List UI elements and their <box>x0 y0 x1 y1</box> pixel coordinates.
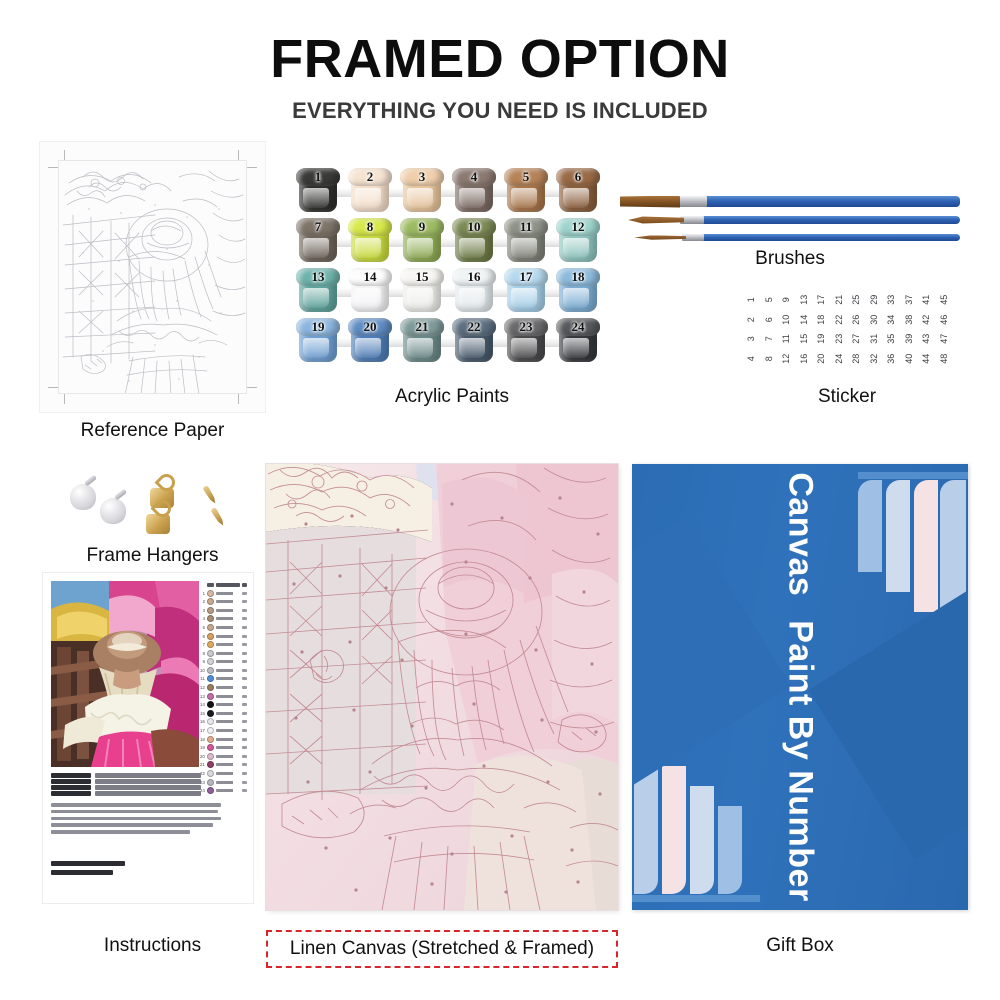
legend-index: 12 <box>197 685 205 690</box>
legend-index: 2 <box>197 599 205 604</box>
gift-box-stripe <box>718 806 742 894</box>
legend-header: A <box>197 581 247 588</box>
legend-row: 4 <box>197 615 247 624</box>
paint-row: 7 8 9 10 11 12 <box>296 216 608 266</box>
pot-gloss <box>511 288 537 308</box>
paint-pot-22: 22 <box>452 318 496 364</box>
pot-gloss <box>459 338 485 358</box>
legend-row: 7 <box>197 640 247 649</box>
pot-number: 2 <box>348 169 392 185</box>
legend-index: 20 <box>197 754 205 759</box>
sticker-number: 41 <box>916 291 936 309</box>
legend-row: 3 <box>197 606 247 615</box>
instructions-sheet-image: A 12345678910111213141516171819202122232… <box>42 572 254 904</box>
legend-code <box>216 609 240 612</box>
legend-index: 19 <box>197 745 205 750</box>
legend-index: 7 <box>197 642 205 647</box>
pot-number: 4 <box>452 169 496 185</box>
legend-code <box>216 712 240 715</box>
legend-code <box>216 660 240 663</box>
pot-number: 19 <box>296 319 340 335</box>
legend-qty <box>242 626 247 629</box>
legend-swatch <box>207 779 214 786</box>
caption-linen-canvas: Linen Canvas (Stretched & Framed) <box>266 930 618 968</box>
sticker-number-grid: 1234567891011121314151617181920212223242… <box>742 290 952 368</box>
legend-qty <box>242 600 247 603</box>
gift-box-line1: Canvas <box>782 472 820 596</box>
paint-pot-20: 20 <box>348 318 392 364</box>
brushes-image <box>620 170 960 260</box>
pot-number: 16 <box>452 269 496 285</box>
paint-pot-9: 9 <box>400 218 444 264</box>
linen-canvas-image <box>266 464 618 910</box>
sticker-number: 27 <box>846 330 866 348</box>
legend-index: 8 <box>197 651 205 656</box>
wall-plug <box>70 484 96 510</box>
pot-gloss <box>511 338 537 358</box>
acrylic-paints-image: 1 2 3 4 5 6 7 8 9 10 11 12 13 14 15 16 1… <box>296 166 608 366</box>
pot-gloss <box>303 338 329 358</box>
pot-gloss <box>459 288 485 308</box>
legend-index: 1 <box>197 591 205 596</box>
gift-box-stripe <box>914 480 938 612</box>
legend-swatch <box>207 607 214 614</box>
legend-row: 9 <box>197 658 247 667</box>
legend-qty <box>242 738 247 741</box>
legend-qty <box>242 781 247 784</box>
sticker-number: 47 <box>934 330 954 348</box>
paint-pot-24: 24 <box>556 318 600 364</box>
legend-code <box>216 763 240 766</box>
legend-code <box>216 781 240 784</box>
paint-pot-13: 13 <box>296 268 340 314</box>
paint-pot-11: 11 <box>504 218 548 264</box>
pot-number: 14 <box>348 269 392 285</box>
column-key-line <box>51 779 201 784</box>
paint-pot-23: 23 <box>504 318 548 364</box>
caption-brushes: Brushes <box>700 248 880 270</box>
legend-qty <box>242 746 247 749</box>
legend-row: 17 <box>197 726 247 735</box>
sticker-number: 42 <box>916 311 936 329</box>
pot-gloss <box>563 288 589 308</box>
instructions-paragraph <box>51 803 221 837</box>
caption-reference-paper: Reference Paper <box>40 420 265 442</box>
paint-pot-10: 10 <box>452 218 496 264</box>
legend-qty <box>242 660 247 663</box>
legend-swatch <box>207 770 214 777</box>
paint-pot-1: 1 <box>296 168 340 214</box>
pot-number: 13 <box>296 269 340 285</box>
sticker-number: 26 <box>846 311 866 329</box>
sticker-number: 34 <box>881 311 901 329</box>
legend-code <box>216 592 240 595</box>
legend-code <box>216 626 240 629</box>
legend-qty <box>242 669 247 672</box>
gift-box-stripe <box>662 766 686 894</box>
legend-row: 8 <box>197 649 247 658</box>
legend-row: 18 <box>197 735 247 744</box>
gift-box-stripe <box>858 480 882 572</box>
pot-gloss <box>459 238 485 258</box>
caption-frame-hangers: Frame Hangers <box>40 545 265 567</box>
legend-code <box>216 686 240 689</box>
legend-row: 13 <box>197 692 247 701</box>
legend-code <box>216 677 240 680</box>
caption-instructions: Instructions <box>40 935 265 957</box>
pot-gloss <box>303 238 329 258</box>
legend-code <box>216 738 240 741</box>
paint-row: 19 20 21 22 23 24 <box>296 316 608 366</box>
legend-row: 6 <box>197 632 247 641</box>
pot-number: 18 <box>556 269 600 285</box>
pot-gloss <box>563 338 589 358</box>
legend-qty <box>242 729 247 732</box>
column-key-line <box>51 785 201 790</box>
pot-number: 3 <box>400 169 444 185</box>
screw <box>210 507 226 527</box>
legend-index: 15 <box>197 711 205 716</box>
wall-plug-pin <box>114 489 127 501</box>
pot-gloss <box>407 288 433 308</box>
legend-index: 4 <box>197 616 205 621</box>
legend-swatch <box>207 641 214 648</box>
legend-qty <box>242 609 247 612</box>
pot-gloss <box>407 238 433 258</box>
pot-number: 5 <box>504 169 548 185</box>
column-key-line <box>51 791 201 796</box>
column-key-line <box>51 773 201 778</box>
sticker-number: 12 <box>776 350 796 368</box>
pot-gloss <box>563 188 589 208</box>
gift-box-title: Canvas Paint By Number <box>781 472 820 901</box>
pot-number: 12 <box>556 219 600 235</box>
legend-row: 19 <box>197 743 247 752</box>
legend-qty <box>242 789 247 792</box>
legend-code <box>216 600 240 603</box>
legend-row: 24 <box>197 786 247 795</box>
legend-swatch <box>207 650 214 657</box>
legend-swatch <box>207 658 214 665</box>
legend-row: 10 <box>197 666 247 675</box>
legend-row: 1 <box>197 589 247 598</box>
legend-qty <box>242 652 247 655</box>
sticker-number: 11 <box>776 330 796 348</box>
legend-code <box>216 729 240 732</box>
reference-paper-lineart <box>58 160 247 394</box>
legend-code <box>216 617 240 620</box>
pot-number: 24 <box>556 319 600 335</box>
pot-gloss <box>303 188 329 208</box>
wall-plug-pin <box>84 475 97 487</box>
legend-index: 10 <box>197 668 205 673</box>
pot-number: 20 <box>348 319 392 335</box>
brush-round-fine <box>620 234 960 241</box>
pot-number: 1 <box>296 169 340 185</box>
legend-row: 12 <box>197 683 247 692</box>
paint-row: 13 14 15 16 17 18 <box>296 266 608 316</box>
pot-number: 9 <box>400 219 444 235</box>
pot-number: 6 <box>556 169 600 185</box>
legend-row: 14 <box>197 700 247 709</box>
pot-gloss <box>407 338 433 358</box>
frame-hangers-image <box>62 470 242 542</box>
pot-number: 21 <box>400 319 444 335</box>
legend-swatch <box>207 761 214 768</box>
pot-number: 23 <box>504 319 548 335</box>
legend-qty <box>242 635 247 638</box>
sticker-number: 10 <box>776 311 796 329</box>
pot-gloss <box>355 338 381 358</box>
pot-gloss <box>511 238 537 258</box>
paint-pot-19: 19 <box>296 318 340 364</box>
paint-pot-21: 21 <box>400 318 444 364</box>
pot-gloss <box>303 288 329 308</box>
reference-paper-image <box>40 142 265 412</box>
legend-qty <box>242 592 247 595</box>
legend-code <box>216 635 240 638</box>
instructions-color-legend: A 12345678910111213141516171819202122232… <box>197 581 247 795</box>
legend-qty <box>242 643 247 646</box>
pot-number: 17 <box>504 269 548 285</box>
paint-pot-12: 12 <box>556 218 600 264</box>
product-infographic: FRAMED OPTION EVERYTHING YOU NEED IS INC… <box>0 0 1000 1000</box>
legend-qty <box>242 695 247 698</box>
pot-gloss <box>459 188 485 208</box>
paint-pot-16: 16 <box>452 268 496 314</box>
sticker-number: 35 <box>881 330 901 348</box>
legend-code <box>216 772 240 775</box>
legend-index: 21 <box>197 762 205 767</box>
legend-row: 11 <box>197 675 247 684</box>
legend-qty <box>242 677 247 680</box>
sticker-number: 45 <box>934 291 954 309</box>
sticker-number: 18 <box>811 311 831 329</box>
legend-swatch <box>207 701 214 708</box>
legend-swatch <box>207 710 214 717</box>
pot-number: 8 <box>348 219 392 235</box>
legend-swatch <box>207 736 214 743</box>
pot-number: 15 <box>400 269 444 285</box>
sticker-number: 4 <box>741 350 761 368</box>
gift-box-stripe <box>886 480 910 592</box>
legend-code <box>216 643 240 646</box>
sticker-number: 36 <box>881 350 901 368</box>
legend-index: 17 <box>197 728 205 733</box>
legend-row: 5 <box>197 623 247 632</box>
legend-code <box>216 703 240 706</box>
gift-box-diagonal <box>808 584 968 860</box>
legend-swatch <box>207 633 214 640</box>
legend-qty <box>242 712 247 715</box>
legend-index: 13 <box>197 694 205 699</box>
paint-pot-14: 14 <box>348 268 392 314</box>
sticker-number: 2 <box>741 311 761 329</box>
legend-qty <box>242 703 247 706</box>
d-ring-hanger <box>146 514 170 534</box>
legend-qty <box>242 617 247 620</box>
pot-gloss <box>511 188 537 208</box>
pot-gloss <box>355 238 381 258</box>
screw <box>202 485 218 505</box>
page-title: FRAMED OPTION <box>0 32 1000 86</box>
legend-swatch <box>207 667 214 674</box>
pot-number: 7 <box>296 219 340 235</box>
sticker-number: 44 <box>916 350 936 368</box>
legend-row: 15 <box>197 709 247 718</box>
sticker-number: 43 <box>916 330 936 348</box>
instructions-footer <box>51 861 171 879</box>
pot-gloss <box>407 188 433 208</box>
legend-swatch <box>207 727 214 734</box>
legend-row: 16 <box>197 718 247 727</box>
legend-row: 22 <box>197 769 247 778</box>
wall-plug <box>100 498 126 524</box>
legend-swatch <box>207 787 214 794</box>
pot-number: 10 <box>452 219 496 235</box>
gift-box-stripe <box>690 786 714 894</box>
legend-swatch <box>207 590 214 597</box>
sticker-number: 46 <box>934 311 954 329</box>
pot-number: 11 <box>504 219 548 235</box>
legend-index: 14 <box>197 702 205 707</box>
legend-code <box>216 720 240 723</box>
paint-pot-5: 5 <box>504 168 548 214</box>
instructions-column-key <box>51 773 201 797</box>
caption-gift-box: Gift Box <box>632 935 968 957</box>
paint-pot-15: 15 <box>400 268 444 314</box>
caption-acrylic-paints: Acrylic Paints <box>296 386 608 408</box>
legend-qty <box>242 772 247 775</box>
caption-sticker: Sticker <box>742 386 952 408</box>
legend-index: 3 <box>197 608 205 613</box>
legend-index: 18 <box>197 737 205 742</box>
legend-index: 9 <box>197 659 205 664</box>
pot-gloss <box>563 238 589 258</box>
pot-number: 22 <box>452 319 496 335</box>
legend-swatch <box>207 753 214 760</box>
legend-index: 11 <box>197 676 205 681</box>
sticker-number: 28 <box>846 350 866 368</box>
sticker-number: 17 <box>811 291 831 309</box>
legend-qty <box>242 686 247 689</box>
legend-swatch <box>207 744 214 751</box>
legend-row: 2 <box>197 597 247 606</box>
pot-gloss <box>355 188 381 208</box>
legend-code <box>216 669 240 672</box>
brush-flat <box>620 196 960 207</box>
paint-pot-2: 2 <box>348 168 392 214</box>
legend-qty <box>242 763 247 766</box>
legend-swatch <box>207 598 214 605</box>
legend-code <box>216 652 240 655</box>
gift-box-diagonal <box>632 516 792 792</box>
legend-index: 6 <box>197 634 205 639</box>
legend-swatch <box>207 624 214 631</box>
sticker-number: 25 <box>846 291 866 309</box>
sticker-number: 1 <box>741 291 761 309</box>
instructions-artwork <box>51 581 199 767</box>
page-subtitle: EVERYTHING YOU NEED IS INCLUDED <box>0 98 1000 124</box>
paint-pot-3: 3 <box>400 168 444 214</box>
paint-pot-4: 4 <box>452 168 496 214</box>
paint-pot-17: 17 <box>504 268 548 314</box>
paint-pot-7: 7 <box>296 218 340 264</box>
gift-box-line2: Paint By Number <box>782 620 820 901</box>
legend-index: 5 <box>197 625 205 630</box>
sticker-sheet-image: 1234567891011121314151617181920212223242… <box>742 290 952 368</box>
sticker-number: 48 <box>934 350 954 368</box>
paint-pot-18: 18 <box>556 268 600 314</box>
sticker-number: 33 <box>881 291 901 309</box>
brush-round-medium <box>620 216 960 224</box>
paint-pot-8: 8 <box>348 218 392 264</box>
gift-box-image: Canvas Paint By Number <box>632 464 968 910</box>
legend-swatch <box>207 615 214 622</box>
legend-swatch <box>207 718 214 725</box>
legend-swatch <box>207 675 214 682</box>
sticker-number: 3 <box>741 330 761 348</box>
legend-row: 23 <box>197 778 247 787</box>
legend-qty <box>242 720 247 723</box>
legend-swatch <box>207 693 214 700</box>
legend-code <box>216 695 240 698</box>
paint-pot-6: 6 <box>556 168 600 214</box>
legend-row: 21 <box>197 761 247 770</box>
sticker-number: 19 <box>811 330 831 348</box>
legend-row: 20 <box>197 752 247 761</box>
legend-code <box>216 746 240 749</box>
legend-qty <box>242 755 247 758</box>
legend-index: 16 <box>197 719 205 724</box>
legend-swatch <box>207 684 214 691</box>
sticker-number: 20 <box>811 350 831 368</box>
sticker-number: 9 <box>776 291 796 309</box>
pot-gloss <box>355 288 381 308</box>
paint-row: 1 2 3 4 5 6 <box>296 166 608 216</box>
legend-code <box>216 789 240 792</box>
legend-code <box>216 755 240 758</box>
